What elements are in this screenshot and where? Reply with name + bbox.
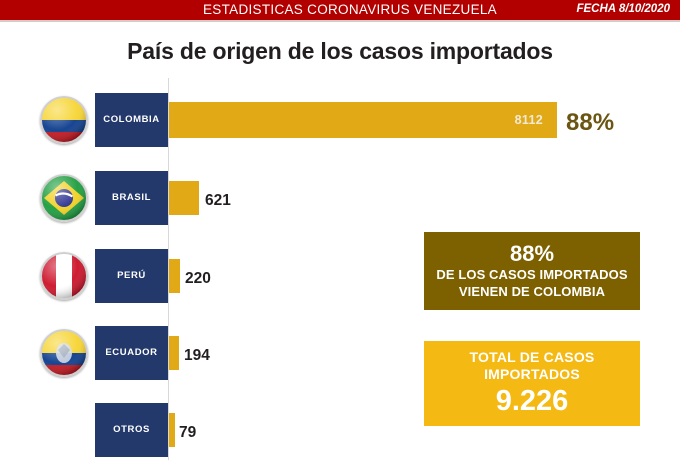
country-label-text: COLOMBIA xyxy=(103,115,160,125)
bar-percent-colombia: 88% xyxy=(566,109,614,137)
bar-value-ecuador: 194 xyxy=(184,347,210,365)
info-box-total-imported: TOTAL DE CASOS IMPORTADOS 9.226 xyxy=(424,341,640,426)
country-label-colombia: COLOMBIA xyxy=(95,93,168,147)
bar-value-brasil: 621 xyxy=(205,192,231,210)
country-label-peru: PERÚ xyxy=(95,249,168,303)
chart-row-colombia: COLOMBIA 8112 88% xyxy=(0,93,680,153)
header-date: FECHA 8/10/2020 xyxy=(576,3,670,15)
info-box-total-line2: IMPORTADOS xyxy=(484,366,580,383)
country-label-text: PERÚ xyxy=(117,271,146,281)
info-box-percent-value: 88% xyxy=(510,242,554,265)
page-title: País de origen de los casos importados xyxy=(0,38,680,65)
country-label-ecuador: ECUADOR xyxy=(95,326,168,380)
bar-brasil xyxy=(169,181,199,215)
country-label-text: BRASIL xyxy=(112,193,151,203)
flag-peru-icon xyxy=(40,252,88,300)
bar-colombia: 8112 xyxy=(169,102,557,138)
info-box-percent-colombia: 88% DE LOS CASOS IMPORTADOS VIENEN DE CO… xyxy=(424,232,640,310)
header-bar: ESTADISTICAS CORONAVIRUS VENEZUELA FECHA… xyxy=(0,0,680,22)
flag-brasil-icon xyxy=(40,174,88,222)
info-box-line2: VIENEN DE COLOMBIA xyxy=(459,284,605,300)
info-box-total-value: 9.226 xyxy=(496,386,569,418)
bar-otros xyxy=(169,413,175,447)
country-label-brasil: BRASIL xyxy=(95,171,168,225)
flag-ecuador-icon xyxy=(40,329,88,377)
country-label-text: OTROS xyxy=(113,425,150,435)
info-box-line1: DE LOS CASOS IMPORTADOS xyxy=(436,267,627,283)
bar-value-colombia: 8112 xyxy=(515,113,543,127)
info-box-total-line1: TOTAL DE CASOS xyxy=(470,349,595,366)
chart-row-brasil: BRASIL 621 xyxy=(0,171,680,231)
bar-ecuador xyxy=(169,336,179,370)
country-label-otros: OTROS xyxy=(95,403,168,457)
flag-colombia-icon xyxy=(40,96,88,144)
bar-peru xyxy=(169,259,180,293)
bar-value-peru: 220 xyxy=(185,270,211,288)
header-title: ESTADISTICAS CORONAVIRUS VENEZUELA xyxy=(190,2,510,17)
country-label-text: ECUADOR xyxy=(105,348,157,358)
bar-value-otros: 79 xyxy=(179,424,196,442)
